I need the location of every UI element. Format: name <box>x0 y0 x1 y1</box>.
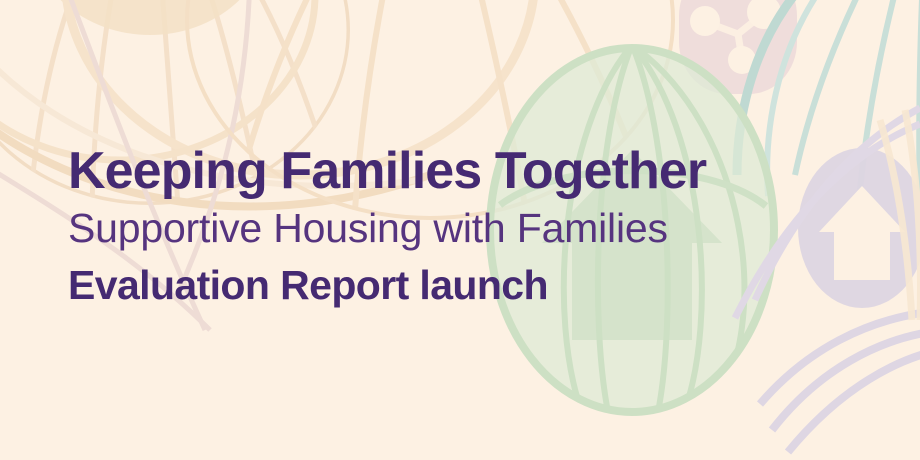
page-subtitle-secondary: Evaluation Report launch <box>68 256 888 314</box>
pink-network-badge <box>679 0 797 94</box>
lavender-arcs-bottom-right <box>760 312 920 452</box>
event-banner: Keeping Families Together Supportive Hou… <box>0 0 920 460</box>
page-subtitle: Supportive Housing with Families <box>68 200 888 256</box>
page-title: Keeping Families Together <box>68 142 888 200</box>
banner-text-block: Keeping Families Together Supportive Hou… <box>68 142 888 314</box>
